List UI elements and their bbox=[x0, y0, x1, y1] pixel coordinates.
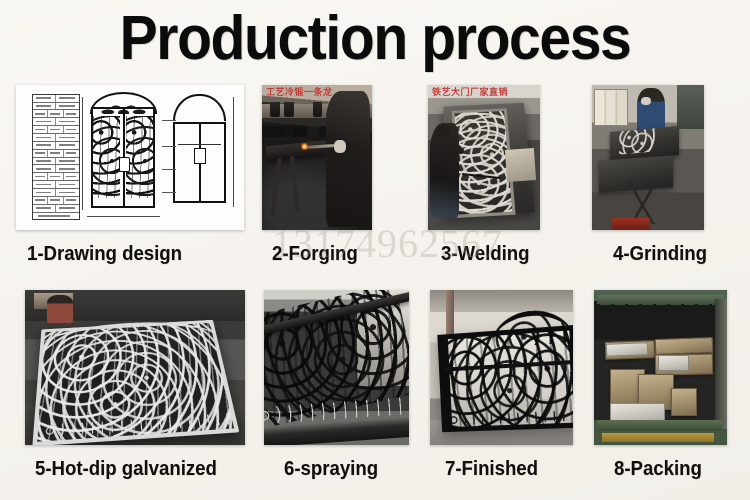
finished-gate-photo[interactable] bbox=[430, 290, 573, 445]
grinding-photo[interactable] bbox=[592, 85, 704, 230]
galvanizing-photo[interactable] bbox=[25, 290, 245, 445]
cad-leader-1 bbox=[162, 120, 176, 121]
welding-photo[interactable]: 铁艺大门厂家直销 bbox=[428, 85, 540, 230]
finished-gate-rail bbox=[444, 360, 571, 371]
container-floor-rail bbox=[597, 420, 722, 431]
container-top-rail bbox=[597, 295, 725, 306]
galvanized-ring-band bbox=[42, 413, 230, 437]
forging-bucket bbox=[313, 102, 323, 117]
technical-drawing-photo[interactable] bbox=[16, 85, 244, 230]
cad-lock-detail bbox=[194, 148, 206, 164]
packing-crate bbox=[671, 388, 697, 416]
step-caption-3: 3-Welding bbox=[441, 243, 530, 265]
cad-sheet bbox=[16, 85, 244, 230]
step-caption-7: 7-Finished bbox=[445, 458, 538, 480]
step-caption-4: 4-Grinding bbox=[613, 243, 707, 265]
container-threshold bbox=[602, 433, 714, 442]
cad-scrollwork-right bbox=[126, 116, 153, 198]
step-caption-6: 6-spraying bbox=[284, 458, 378, 480]
step-caption-1: 1-Drawing design bbox=[27, 243, 182, 265]
forging-worker bbox=[326, 91, 370, 227]
welding-worker-head bbox=[436, 124, 451, 141]
cad-spec-table bbox=[32, 94, 80, 221]
step-caption-2: 2-Forging bbox=[272, 243, 358, 265]
packing-crate bbox=[655, 337, 713, 355]
packing-photo[interactable] bbox=[594, 290, 727, 445]
forging-overlay-text: 工艺冷锻一条龙 bbox=[266, 88, 333, 98]
forging-bucket bbox=[284, 102, 294, 117]
grinding-wall bbox=[677, 85, 704, 129]
grinding-worker-mask bbox=[641, 97, 651, 106]
grinding-scrollwork bbox=[619, 128, 655, 154]
step-caption-5: 5-Hot-dip galvanized bbox=[35, 458, 217, 480]
cad-dome bbox=[173, 94, 225, 122]
cad-leader-3 bbox=[162, 169, 176, 170]
cad-door-elevation bbox=[87, 92, 160, 212]
galvanized-gate-panel bbox=[33, 319, 240, 445]
step-caption-8: 8-Packing bbox=[614, 458, 702, 480]
forging-glove bbox=[334, 140, 346, 153]
grinding-red-box bbox=[612, 218, 650, 230]
cad-section-view bbox=[171, 94, 228, 210]
cad-dimension-line-right bbox=[233, 97, 234, 207]
cad-leader-4 bbox=[162, 192, 176, 193]
grinding-door-stack bbox=[594, 89, 627, 126]
cad-door-handle bbox=[119, 157, 130, 172]
packing-wrapped-panel bbox=[606, 342, 648, 356]
forging-bucket bbox=[270, 102, 280, 117]
welding-material-box bbox=[505, 148, 536, 182]
finished-gate-arch bbox=[490, 308, 573, 348]
welding-overlay-text: 铁艺大门厂家直销 bbox=[432, 88, 508, 98]
forging-photo[interactable]: 工艺冷锻一条龙 bbox=[262, 85, 372, 230]
finished-iron-gate bbox=[437, 325, 573, 432]
packing-wrapped-panel bbox=[658, 355, 689, 371]
cad-leader-2 bbox=[162, 146, 176, 147]
production-process-poster: Production process bbox=[0, 0, 750, 500]
galvanizing-worker bbox=[47, 295, 73, 323]
finished-gate-ring-band bbox=[449, 411, 572, 426]
spraying-photo[interactable] bbox=[264, 290, 409, 445]
cad-dimension-line-bottom bbox=[87, 216, 160, 217]
container-side-wall bbox=[715, 299, 727, 429]
cad-dimension-line-left bbox=[82, 97, 83, 210]
cad-scrollwork-left bbox=[93, 116, 120, 198]
page-title: Production process bbox=[30, 6, 720, 72]
